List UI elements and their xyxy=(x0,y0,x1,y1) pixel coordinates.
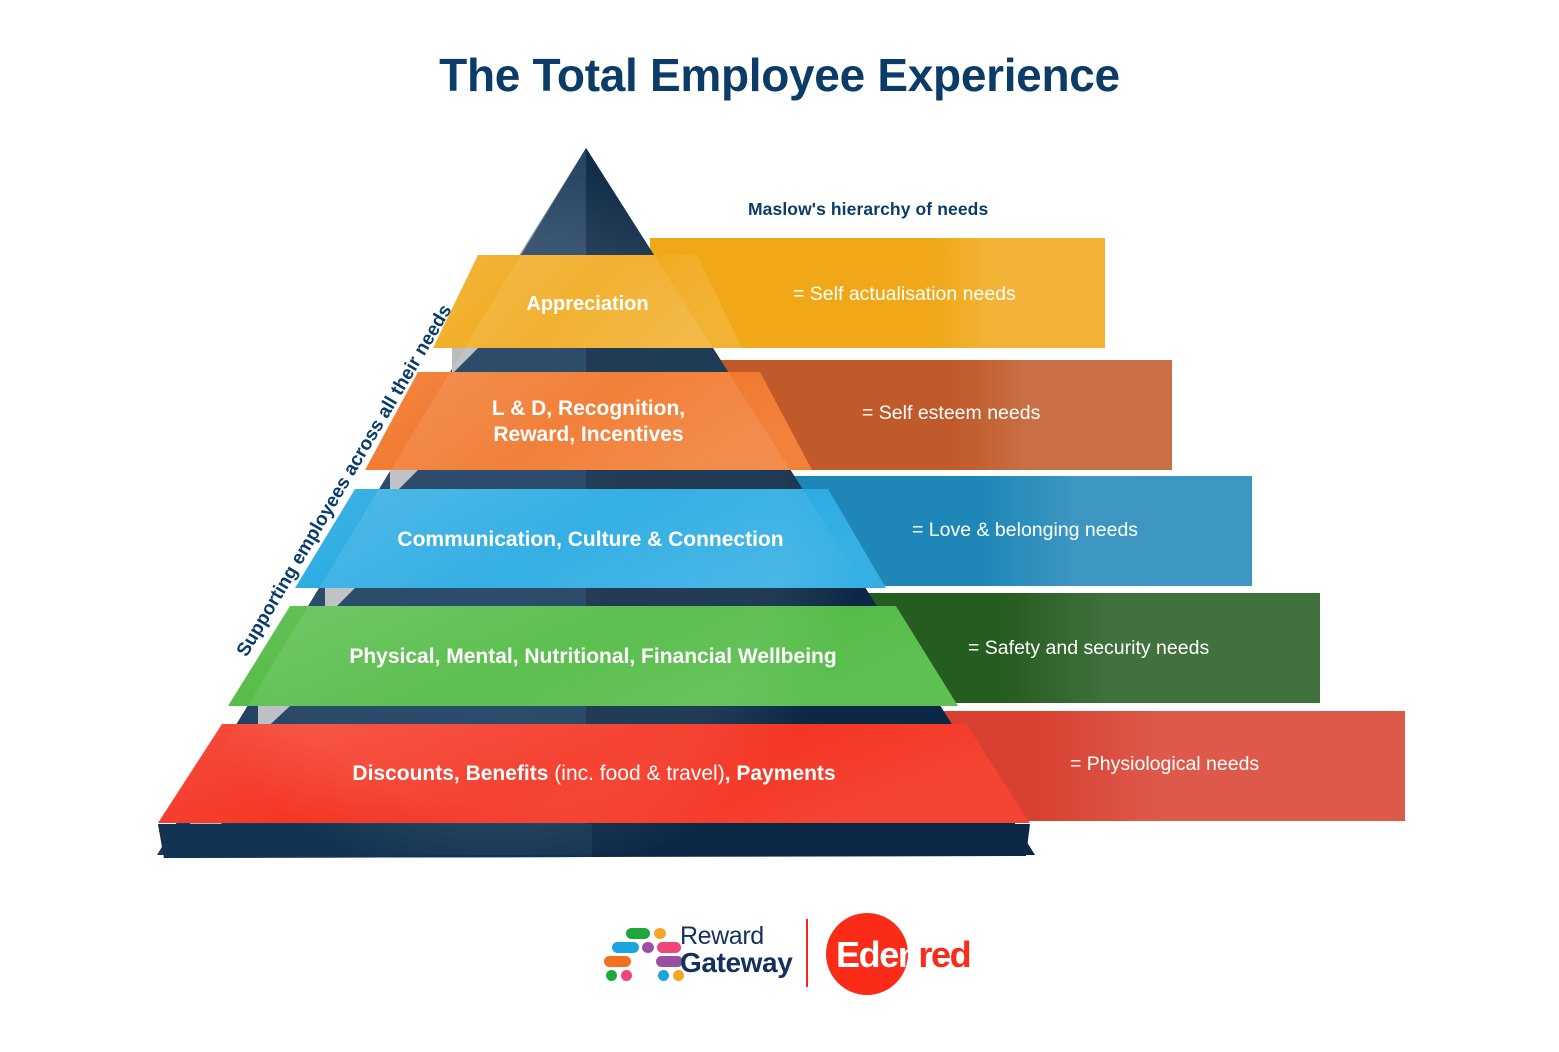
reward-gateway-wordmark: Reward Gateway xyxy=(680,923,792,978)
infographic-canvas: The Total Employee Experience Maslow's h… xyxy=(0,0,1559,1052)
edenred-wordmark: Edenred xyxy=(836,934,970,976)
footer-logos: Reward Gateway Edenred xyxy=(0,905,1559,1005)
edenred-logo[interactable]: Edenred xyxy=(826,913,996,995)
edenred-word-white: Eden xyxy=(836,934,918,975)
reward-gateway-line-2: Gateway xyxy=(680,948,792,978)
reward-gateway-line-1: Reward xyxy=(680,923,792,950)
pyramid-diagram xyxy=(0,0,1559,1052)
logo-divider xyxy=(806,919,808,987)
reward-gateway-logo[interactable]: Reward Gateway xyxy=(604,923,804,985)
edenred-word-red: red xyxy=(918,934,970,975)
reward-gateway-mark-icon xyxy=(604,926,674,978)
